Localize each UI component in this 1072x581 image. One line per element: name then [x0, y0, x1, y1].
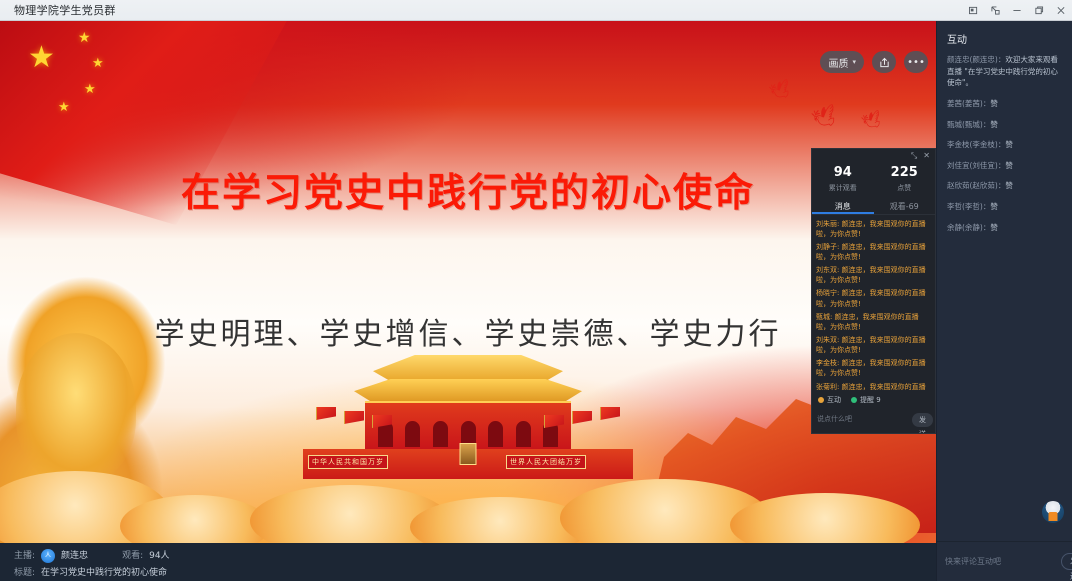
topic-value: 在学习党史中践行党的初心使命	[41, 567, 167, 580]
list-item: 李金枝(李金枝)：赞	[947, 139, 1062, 151]
message-author: 颜连忠(颜连忠)：	[947, 55, 1005, 64]
list-item: 李金枝: 颜连忠，我来围观你的直播啦，为你点赞!	[816, 358, 931, 378]
avatar	[1042, 501, 1064, 523]
message-text: 赞	[1005, 161, 1013, 170]
screenshot-icon[interactable]	[962, 0, 984, 21]
floating-panel-header: ⤡ ✕	[812, 149, 935, 163]
filter-interaction[interactable]: 互动	[818, 395, 841, 405]
cloud-decoration	[0, 467, 936, 543]
message-author: 刘佳宜(刘佳宜)：	[947, 161, 1005, 170]
status-dot-orange	[818, 397, 824, 403]
list-item: 张菊利: 颜连忠，我来围观你的直播啦，为你点赞!	[816, 382, 931, 391]
live-stream-window: 物理学院学生党员群 ★ ★ ★ ★ ★	[0, 0, 1072, 581]
video-stage[interactable]: ★ ★ ★ ★ ★ 🕊 🕊 🕊 中华人民共和国万岁 世界人民大团结万岁	[0, 21, 936, 543]
avatar: 人	[41, 549, 55, 563]
list-item: 甄城: 颜连忠，我来围观你的直播啦，为你点赞!	[816, 312, 931, 332]
topic-row: 标题: 在学习党史中践行党的初心使命	[14, 567, 922, 580]
share-button[interactable]	[872, 51, 896, 73]
sidebar-message-list[interactable]: 颜连忠(颜连忠)：欢迎大家来观看直播 "在学习党史中践行党的初心使命"。 姜茜(…	[937, 54, 1072, 541]
restore-icon[interactable]	[1028, 0, 1050, 21]
stat-value: 225	[874, 165, 936, 181]
window-controls	[962, 0, 1072, 21]
message-author: 姜茜(姜茜)：	[947, 99, 990, 108]
filter-label: 提醒 9	[860, 395, 881, 405]
host-label: 主播:	[14, 550, 35, 563]
dove-icon: 🕊	[860, 110, 884, 131]
topic-label: 标题:	[14, 567, 35, 580]
comment-input[interactable]	[945, 557, 1055, 566]
stream-info-bar: 主播: 人 颜连忠 观看: 94人 标题: 在学习党史中践行党的初心使命	[0, 543, 936, 581]
floating-panel-tabs: 消息 观看-69	[812, 199, 935, 215]
message-text: 赞	[990, 223, 998, 232]
list-item: 李哲(李哲)：赞	[947, 201, 1062, 213]
sidebar-input-area: 发送	[937, 541, 1072, 581]
message-author: 赵欣茹(赵欣茹)：	[947, 181, 1005, 190]
message-text: 赞	[1005, 140, 1013, 149]
slide-title: 在学习党史中践行党的初心使命	[0, 173, 936, 216]
message-author: 李金枝(李金枝)：	[947, 140, 1005, 149]
list-item: 刘静子: 颜连忠，我来围观你的直播啦，为你点赞!	[816, 242, 931, 262]
minimize-corner-icon[interactable]	[984, 0, 1006, 21]
minimize-icon[interactable]	[1006, 0, 1028, 21]
chevron-down-icon: ▾	[852, 58, 856, 66]
stat-viewers: 94 累计观看	[812, 165, 874, 193]
floating-panel-stats: 94 累计观看 225 点赞	[812, 163, 935, 199]
mini-flags	[318, 407, 618, 447]
floating-message-list[interactable]: 刘朱丽: 颜连忠，我来围观你的直播啦，为你点赞! 刘静子: 颜连忠，我来围观你的…	[812, 215, 935, 391]
gate-roof-top	[373, 355, 563, 381]
list-item: 刘东双: 颜连忠，我来围观你的直播啦，为你点赞!	[816, 265, 931, 285]
close-icon[interactable]: ✕	[923, 152, 930, 160]
quality-dropdown[interactable]: 画质 ▾	[820, 51, 864, 73]
tab-viewers[interactable]: 观看-69	[874, 199, 936, 214]
list-item: 杨晓宁: 颜连忠，我来围观你的直播啦，为你点赞!	[816, 288, 931, 308]
sidebar-title: 互动	[937, 21, 1072, 54]
star-icon: ★	[78, 31, 91, 45]
stat-likes: 225 点赞	[874, 165, 936, 193]
list-item: 赵欣茹(赵欣茹)：赞	[947, 180, 1062, 192]
status-dot-green	[851, 397, 857, 403]
interaction-sidebar: 互动 颜连忠(颜连忠)：欢迎大家来观看直播 "在学习党史中践行党的初心使命"。 …	[936, 21, 1072, 581]
message-text: 赞	[1005, 181, 1013, 190]
slide-subtitle: 学史明理、学史增信、学史崇德、学史力行	[0, 309, 936, 353]
quality-label: 画质	[828, 55, 848, 70]
dove-icon: 🕊	[768, 80, 794, 103]
close-icon[interactable]	[1050, 0, 1072, 21]
share-icon	[879, 57, 890, 68]
more-options-button[interactable]: •••	[904, 51, 928, 73]
star-icon: ★	[28, 43, 55, 73]
list-item: 姜茜(姜茜)：赞	[947, 98, 1062, 110]
floating-panel-input-row: 发送	[812, 409, 935, 433]
filter-label: 互动	[827, 395, 841, 405]
stage-toolbar: 画质 ▾ •••	[820, 51, 928, 73]
floating-panel-filters: 互动 提醒 9	[812, 391, 935, 409]
floating-chat-panel[interactable]: ⤡ ✕ 94 累计观看 225 点赞 消息 观看-69 刘朱丽: 颜连忠，我来围…	[811, 148, 936, 434]
presentation-slide: ★ ★ ★ ★ ★ 🕊 🕊 🕊 中华人民共和国万岁 世界人民大团结万岁	[0, 21, 936, 543]
filter-notice[interactable]: 提醒 9	[851, 395, 881, 405]
message-author: 李哲(李哲)：	[947, 202, 990, 211]
message-text: 赞	[990, 202, 998, 211]
message-author: 甄城(甄城)：	[947, 120, 990, 129]
dove-icon: 🕊	[810, 104, 840, 131]
message-text: 赞	[990, 120, 998, 129]
stat-label: 点赞	[874, 183, 936, 193]
message-author: 余静(余静)：	[947, 223, 990, 232]
send-button[interactable]: 发送	[1061, 553, 1072, 570]
viewers-label: 观看:	[122, 550, 143, 563]
list-item: 刘佳宜(刘佳宜)：赞	[947, 160, 1062, 172]
stat-value: 94	[812, 165, 874, 181]
star-icon: ★	[84, 83, 96, 96]
host-row: 主播: 人 颜连忠 观看: 94人	[14, 549, 922, 563]
collapse-icon[interactable]: ⤡	[911, 152, 917, 160]
list-item: 余静(余静)：赞	[947, 222, 1062, 234]
floating-send-button[interactable]: 发送	[912, 413, 933, 427]
stat-label: 累计观看	[812, 183, 874, 193]
floating-chat-input[interactable]	[817, 412, 908, 427]
host-name: 颜连忠	[61, 550, 88, 563]
list-item: 甄城(甄城)：赞	[947, 119, 1062, 131]
list-item: 刘朱丽: 颜连忠，我来围观你的直播啦，为你点赞!	[816, 219, 931, 239]
viewers-count: 94人	[149, 550, 169, 563]
window-titlebar: 物理学院学生党员群	[0, 0, 1072, 21]
window-title: 物理学院学生党员群	[14, 2, 116, 18]
star-icon: ★	[92, 57, 104, 70]
star-icon: ★	[58, 101, 70, 114]
gate-roof-lower	[354, 379, 582, 401]
tab-messages[interactable]: 消息	[812, 199, 874, 214]
message-text: 赞	[990, 99, 998, 108]
list-item: 刘朱双: 颜连忠，我来围观你的直播啦，为你点赞!	[816, 335, 931, 355]
list-item: 颜连忠(颜连忠)：欢迎大家来观看直播 "在学习党史中践行党的初心使命"。	[947, 54, 1062, 89]
